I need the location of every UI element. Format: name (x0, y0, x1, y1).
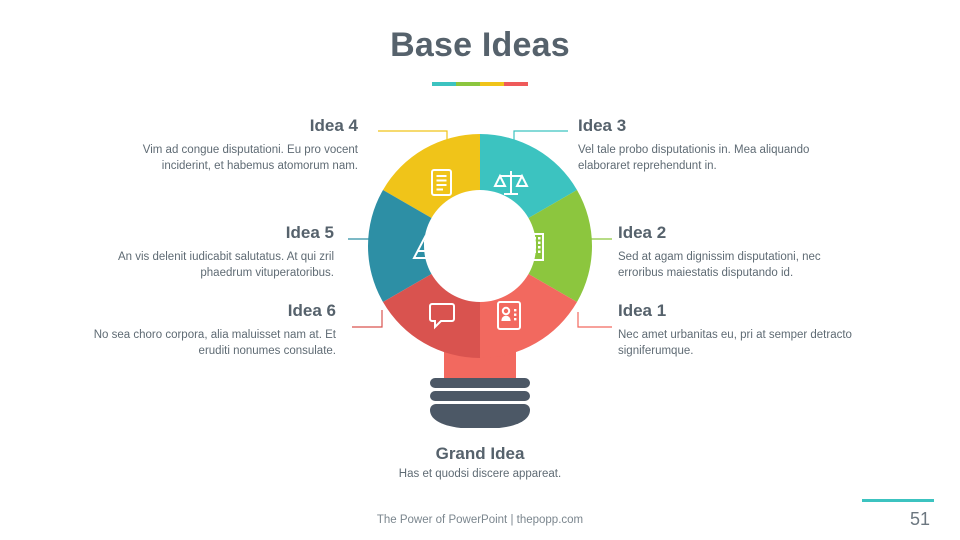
lightbulb-donut-chart (366, 128, 594, 428)
title-rule-segment-3 (480, 82, 504, 86)
idea-body: No sea choro corpora, alia maluisset nam… (86, 327, 336, 359)
idea-block-idea-6: Idea 6 No sea choro corpora, alia maluis… (86, 300, 336, 359)
idea-title: Idea 1 (618, 300, 868, 322)
footer-credit: The Power of PowerPoint | thepopp.com (0, 514, 960, 526)
slide: Base Ideas (0, 0, 960, 540)
idea-block-idea-5: Idea 5 An vis delenit iudicabit salutatu… (84, 222, 334, 281)
page-number: 51 (910, 509, 930, 530)
grand-idea-body: Has et quodsi discere appareat. (0, 468, 960, 480)
idea-title: Idea 2 (618, 222, 868, 244)
idea-block-idea-1: Idea 1 Nec amet urbanitas eu, pri at sem… (618, 300, 868, 359)
bulb-base (430, 378, 530, 428)
idea-block-idea-4: Idea 4 Vim ad congue disputationi. Eu pr… (108, 115, 358, 174)
grand-idea-block: Grand Idea Has et quodsi discere apparea… (0, 444, 960, 480)
idea-title: Idea 4 (108, 115, 358, 137)
title-rule-segment-1 (432, 82, 456, 86)
grand-idea-title: Grand Idea (0, 444, 960, 464)
title-rule-segment-2 (456, 82, 480, 86)
idea-block-idea-2: Idea 2 Sed at agam dignissim disputation… (618, 222, 868, 281)
idea-title: Idea 3 (578, 115, 828, 137)
idea-title: Idea 5 (84, 222, 334, 244)
title-rule-segment-4 (504, 82, 528, 86)
idea-body: Vim ad congue disputationi. Eu pro vocen… (108, 142, 358, 174)
idea-body: Sed at agam dignissim disputationi, nec … (618, 249, 868, 281)
idea-body: Vel tale probo disputationis in. Mea ali… (578, 142, 828, 174)
title-underline-rule (432, 82, 528, 86)
page-title: Base Ideas (0, 26, 960, 65)
idea-body: An vis delenit iudicabit salutatus. At q… (84, 249, 334, 281)
idea-body: Nec amet urbanitas eu, pri at semper det… (618, 327, 868, 359)
bulb-segments (368, 134, 592, 358)
idea-block-idea-3: Idea 3 Vel tale probo disputationis in. … (578, 115, 828, 174)
page-number-rule (862, 499, 934, 502)
idea-title: Idea 6 (86, 300, 336, 322)
